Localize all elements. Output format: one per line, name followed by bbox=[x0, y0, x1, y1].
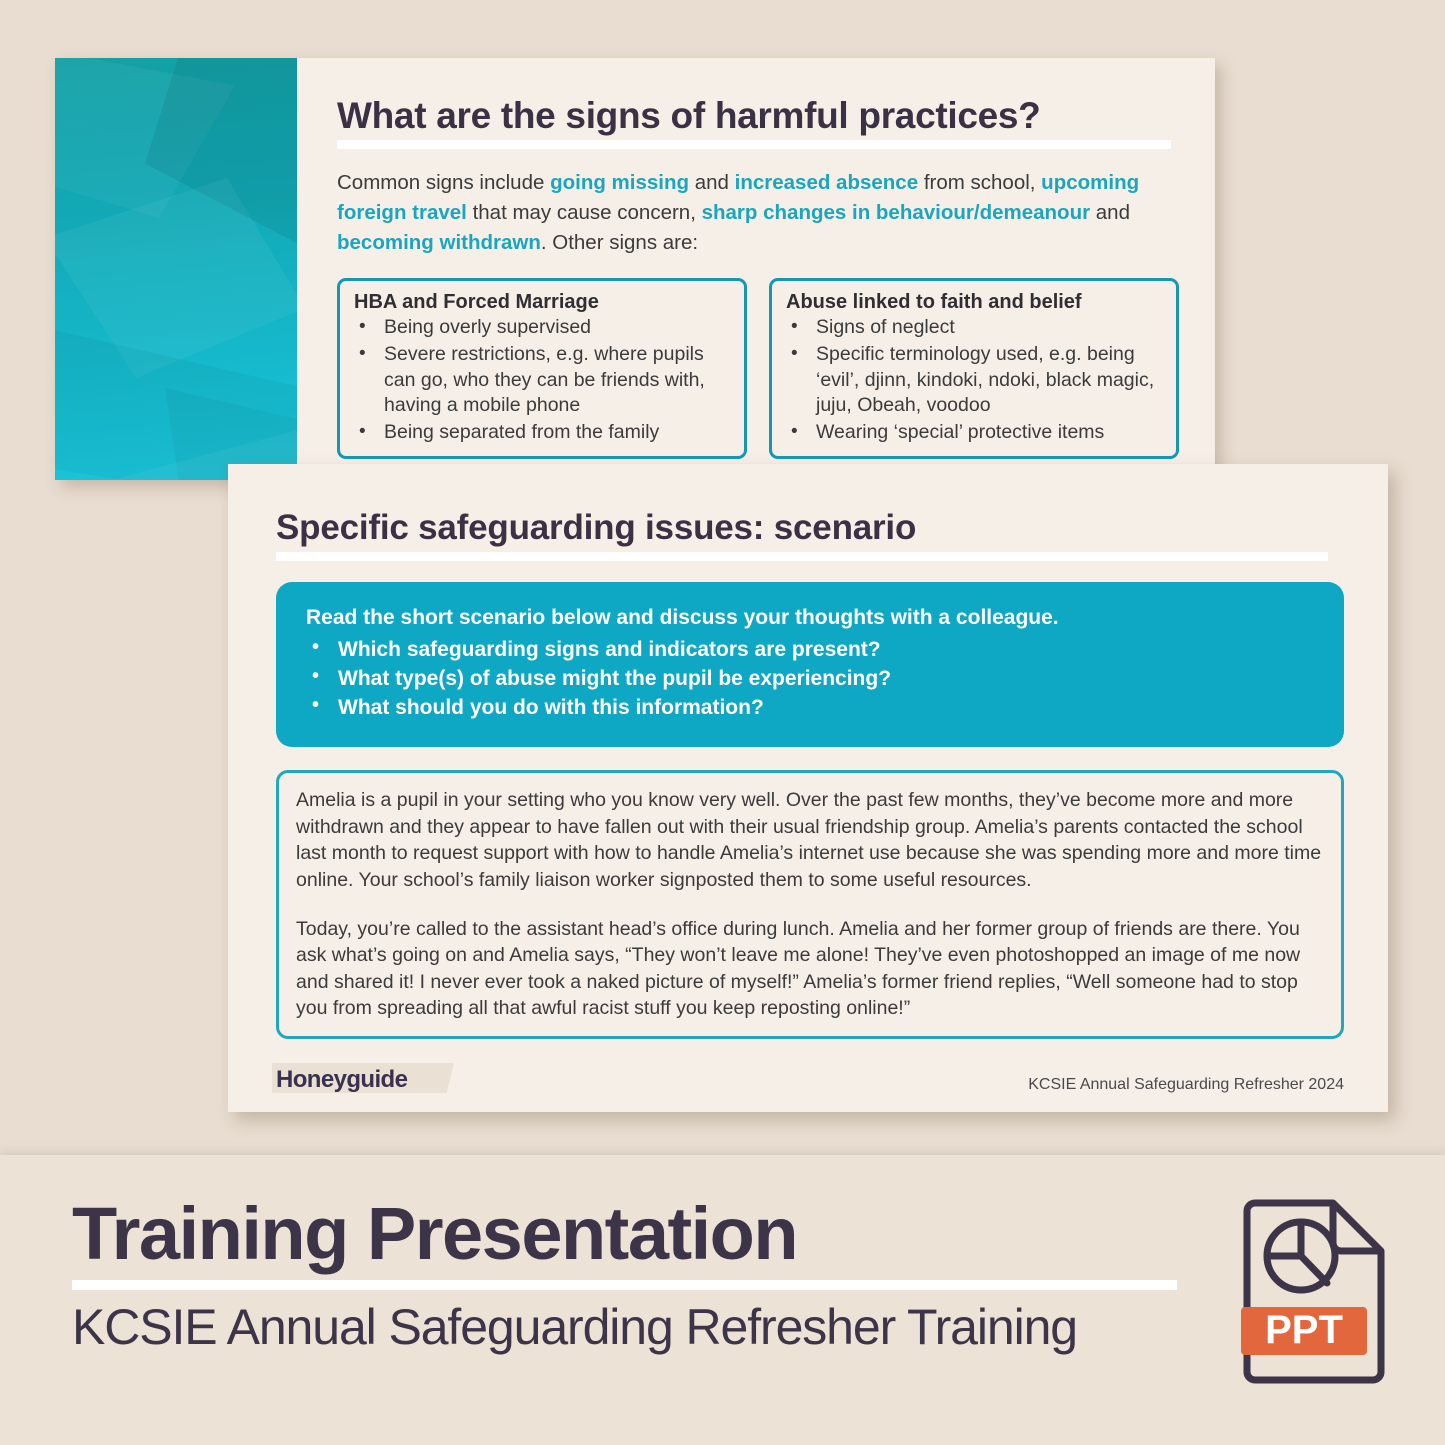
slide2-title-underline bbox=[276, 552, 1328, 561]
card-hba-forced-marriage: HBA and Forced Marriage Being overly sup… bbox=[337, 278, 747, 460]
card-heading: HBA and Forced Marriage bbox=[354, 291, 732, 314]
pie-slice-line bbox=[1301, 1256, 1327, 1283]
ppt-file-icon: PPT bbox=[1239, 1199, 1389, 1384]
list-item: What should you do with this information… bbox=[306, 694, 1318, 723]
intro-seg: and bbox=[1090, 201, 1130, 224]
intro-highlight: going missing bbox=[550, 171, 689, 194]
intro-seg: from school, bbox=[918, 171, 1041, 194]
slide2-title: Specific safeguarding issues: scenario bbox=[276, 508, 1344, 548]
list-item: Specific terminology used, e.g. being ‘e… bbox=[786, 342, 1164, 420]
task-instruction-box: Read the short scenario below and discus… bbox=[276, 582, 1344, 747]
logo-text: Honeyguide bbox=[276, 1066, 407, 1093]
intro-seg: that may cause concern, bbox=[467, 201, 702, 224]
ppt-badge-label: PPT bbox=[1265, 1308, 1343, 1352]
slide-harmful-practices[interactable]: What are the signs of harmful practices?… bbox=[55, 58, 1215, 480]
banner-content: Training Presentation KCSIE Annual Safeg… bbox=[0, 1155, 1445, 1445]
intro-highlight: becoming withdrawn bbox=[337, 231, 541, 254]
list-item: Severe restrictions, e.g. where pupils c… bbox=[354, 342, 732, 420]
honeyguide-logo: Honeyguide bbox=[276, 1066, 407, 1094]
bottom-banner: Training Presentation KCSIE Annual Safeg… bbox=[0, 1155, 1445, 1445]
banner-title: Training Presentation bbox=[72, 1197, 1385, 1271]
slide1-card-row: HBA and Forced Marriage Being overly sup… bbox=[337, 278, 1179, 460]
banner-underline bbox=[72, 1280, 1177, 1290]
slide-safeguarding-scenario[interactable]: Specific safeguarding issues: scenario R… bbox=[228, 464, 1388, 1112]
scenario-text-box: Amelia is a pupil in your setting who yo… bbox=[276, 770, 1344, 1039]
slide1-title-underline bbox=[337, 140, 1171, 149]
list-item: Wearing ‘special’ protective items bbox=[786, 420, 1164, 446]
scenario-paragraph: Amelia is a pupil in your setting who yo… bbox=[296, 787, 1325, 893]
card-list: Signs of neglect Specific terminology us… bbox=[786, 315, 1164, 447]
slide1-title: What are the signs of harmful practices? bbox=[337, 96, 1179, 136]
list-item: Being overly supervised bbox=[354, 315, 732, 341]
intro-seg: . Other signs are: bbox=[541, 231, 698, 254]
list-item: What type(s) of abuse might the pupil be… bbox=[306, 665, 1318, 694]
intro-highlight: sharp changes in behaviour/demeanour bbox=[702, 201, 1090, 224]
intro-seg: and bbox=[689, 171, 735, 194]
card-heading: Abuse linked to faith and belief bbox=[786, 291, 1164, 314]
card-list: Being overly supervised Severe restricti… bbox=[354, 315, 732, 447]
intro-highlight: increased absence bbox=[735, 171, 918, 194]
footer-reference: KCSIE Annual Safeguarding Refresher 2024 bbox=[1028, 1076, 1344, 1094]
slide1-intro-paragraph: Common signs include going missing and i… bbox=[337, 168, 1179, 258]
list-item: Which safeguarding signs and indicators … bbox=[306, 636, 1318, 665]
scenario-paragraph: Today, you’re called to the assistant he… bbox=[296, 916, 1325, 1022]
slide1-decorative-sidebar bbox=[55, 58, 297, 480]
list-item: Signs of neglect bbox=[786, 315, 1164, 341]
task-lead-text: Read the short scenario below and discus… bbox=[306, 604, 1318, 631]
intro-seg: Common signs include bbox=[337, 171, 550, 194]
slide1-content: What are the signs of harmful practices?… bbox=[297, 58, 1215, 480]
task-question-list: Which safeguarding signs and indicators … bbox=[306, 636, 1318, 723]
slide2-footer: Honeyguide KCSIE Annual Safeguarding Ref… bbox=[276, 1066, 1344, 1094]
list-item: Being separated from the family bbox=[354, 420, 732, 446]
card-abuse-faith-belief: Abuse linked to faith and belief Signs o… bbox=[769, 278, 1179, 460]
slide2-content: Specific safeguarding issues: scenario R… bbox=[228, 464, 1388, 1112]
banner-subtitle: KCSIE Annual Safeguarding Refresher Trai… bbox=[72, 1301, 1385, 1354]
